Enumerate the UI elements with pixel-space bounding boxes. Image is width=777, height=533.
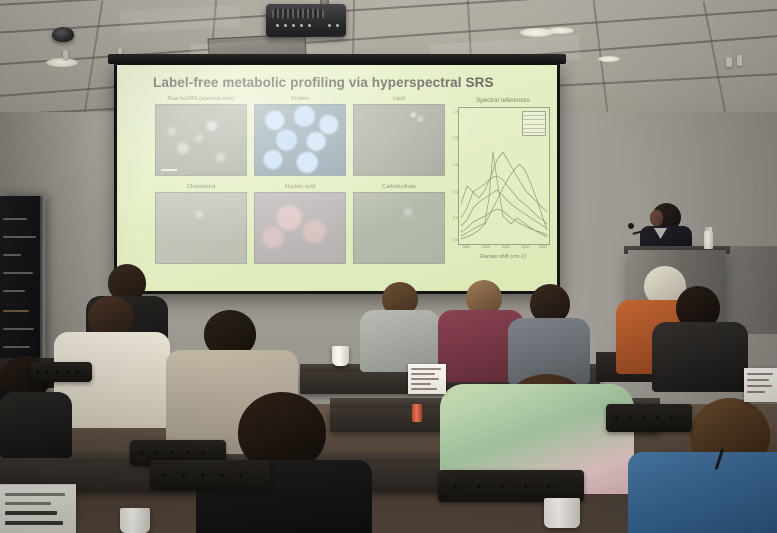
spectra-plot-area: 1.0 0.8 0.6 0.4 0.2 0.0 [458,107,550,245]
x-tick-2: 3000 [502,245,510,249]
sign-line-4 [5,521,63,525]
table-reserved-card [408,364,446,394]
panel-label-lipid: Lipid [353,95,445,104]
x-tick-4: 3200 [539,245,547,249]
right-wall-panel [718,246,777,334]
chair-back-1 [30,362,92,382]
chair-front-1 [150,460,270,490]
projector-vent [272,9,324,18]
x-tick-0: 2800 [462,245,470,249]
panel-label-protein: Protein [254,95,346,104]
spectra-x-axis-label: Raman shift (cm-1) [455,254,551,260]
panel-nucleic-acid: Nucleic acid [254,183,346,264]
spectral-references-chart: Spectral references [455,97,551,265]
lecture-hall-photo: Label-free metabolic profiling via hyper… [0,0,777,533]
table-card-right [744,368,777,402]
panel-label-nucleic-acid: Nucleic acid [254,183,346,192]
sign-line-2 [5,502,51,505]
x-tick-3: 3100 [521,245,529,249]
panel-image-carbohydrate [353,192,445,264]
panel-image-lipid [353,104,445,176]
water-bottle [704,231,713,249]
microphone-icon [628,223,634,229]
y-tick-4: 0.2 [453,216,458,220]
speaker-face [650,210,663,226]
coffee-cup [544,498,580,528]
panel-label-cholesterol: Cholesterol [155,183,247,192]
panel-label-carbohydrate: Carbohydrate [353,183,445,192]
projected-slide: Label-free metabolic profiling via hyper… [117,65,557,291]
ceiling-sprinkler-1 [726,57,732,67]
x-tick-1: 2900 [482,245,490,249]
panel-protein: Protein [254,95,346,176]
spectra-x-axis-ticks: 2800 2900 3000 3100 3200 [458,245,548,252]
legend-row-water [523,133,545,136]
scale-bar [161,169,177,171]
panel-image-raw-hssrs [155,104,247,176]
ceiling-projector [266,4,346,37]
slide-title: Label-free metabolic profiling via hyper… [153,75,494,90]
sign-line-1 [5,493,65,496]
spectra-chart-title: Spectral references [455,97,551,104]
y-tick-0: 1.0 [453,110,458,114]
y-tick-5: 0.0 [453,238,458,242]
glass-tumbler [332,346,349,366]
sign-line-3 [5,511,57,515]
panel-carbohydrate: Carbohydrate [353,183,445,264]
torso [652,322,748,392]
torso [628,452,777,533]
y-tick-1: 0.8 [453,136,458,140]
panel-cholesterol: Cholesterol [155,183,247,264]
recessed-ceiling-light-3 [548,27,574,34]
spectra-legend [522,111,546,136]
ceiling-sprinkler-2 [737,55,742,66]
panel-raw-hssrs: Raw hsSRS (spectral sum) [155,95,247,176]
spectra-y-axis-ticks: 1.0 0.8 0.6 0.4 0.2 0.0 [450,108,459,244]
coffee-cup-2 [120,508,150,533]
chair-right-1 [606,404,692,432]
ceiling-sprinkler-3 [63,50,68,59]
panel-image-nucleic-acid [254,192,346,264]
y-tick-2: 0.6 [453,163,458,167]
panel-image-cholesterol [155,192,247,264]
torso [360,310,440,372]
soda-can [412,404,422,422]
y-tick-3: 0.4 [453,190,458,194]
microscopy-panel-grid: Raw hsSRS (spectral sum) Protein Lipid C… [155,95,445,265]
panel-lipid: Lipid [353,95,445,176]
recessed-ceiling-light-4 [598,56,620,62]
internet-connection-sign [0,484,76,533]
panel-label-raw-hssrs: Raw hsSRS (spectral sum) [155,95,247,104]
panel-image-protein [254,104,346,176]
recessed-ceiling-light-1 [46,58,78,67]
torso [0,392,72,458]
projector-lens [52,27,74,42]
